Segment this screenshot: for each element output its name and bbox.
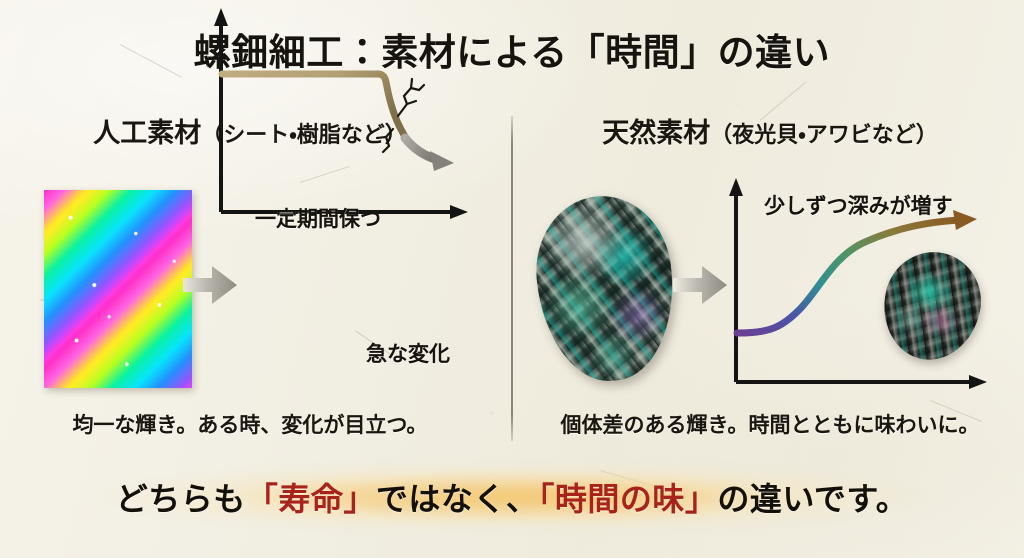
banner-text-after: の違いです。 <box>717 480 908 518</box>
right-chart-arrowhead <box>953 210 977 230</box>
right-caption: 個体差のある輝き。時間とともに味わいに。 <box>520 409 1020 439</box>
left-chart-curve <box>222 74 408 141</box>
left-flow-arrow-icon <box>182 262 238 308</box>
left-chart-note-plateau: 一定期間保つ <box>255 203 381 233</box>
left-caption: 均一な輝き。ある時、変化が目立つ。 <box>0 409 500 439</box>
bottom-banner: どちらも「寿命」ではなく、「時間の味」の違いです。 <box>0 462 1024 532</box>
left-chart-axes <box>214 8 468 219</box>
banner-text-before: どちらも <box>116 480 246 518</box>
right-heading-main: 天然素材 <box>602 118 710 149</box>
left-heading-main: 人工素材 <box>93 118 201 149</box>
banner-highlight-flavor-of-time: 「時間の味」 <box>538 480 717 518</box>
glitter-sparkle-overlay <box>44 190 192 388</box>
infographic-canvas: 螺鈿細工：素材による「時間」の違い 人工素材（シート・樹脂など） 天然素材（夜光… <box>0 0 1024 558</box>
banner-text: どちらも「寿命」ではなく、「時間の味」の違いです。 <box>116 474 908 520</box>
column-divider <box>511 116 513 441</box>
right-chart-note-deepen: 少しずつ深みが増す <box>764 190 953 220</box>
left-chart-note-sudden: 急な変化 <box>366 338 450 368</box>
sudden-change-arrow-icon <box>405 138 454 171</box>
page-title: 螺鈿細工：素材による「時間」の違い <box>0 22 1024 76</box>
rainbow-glitter-sheet-sample <box>44 190 192 388</box>
banner-text-middle: ではなく、 <box>376 480 539 518</box>
left-chart <box>200 0 480 225</box>
banner-highlight-lifespan: 「寿命」 <box>246 480 376 518</box>
right-column-heading: 天然素材（夜光貝・アワビなど） <box>520 111 1020 150</box>
right-heading-sub: （夜光貝・アワビなど） <box>710 123 937 148</box>
